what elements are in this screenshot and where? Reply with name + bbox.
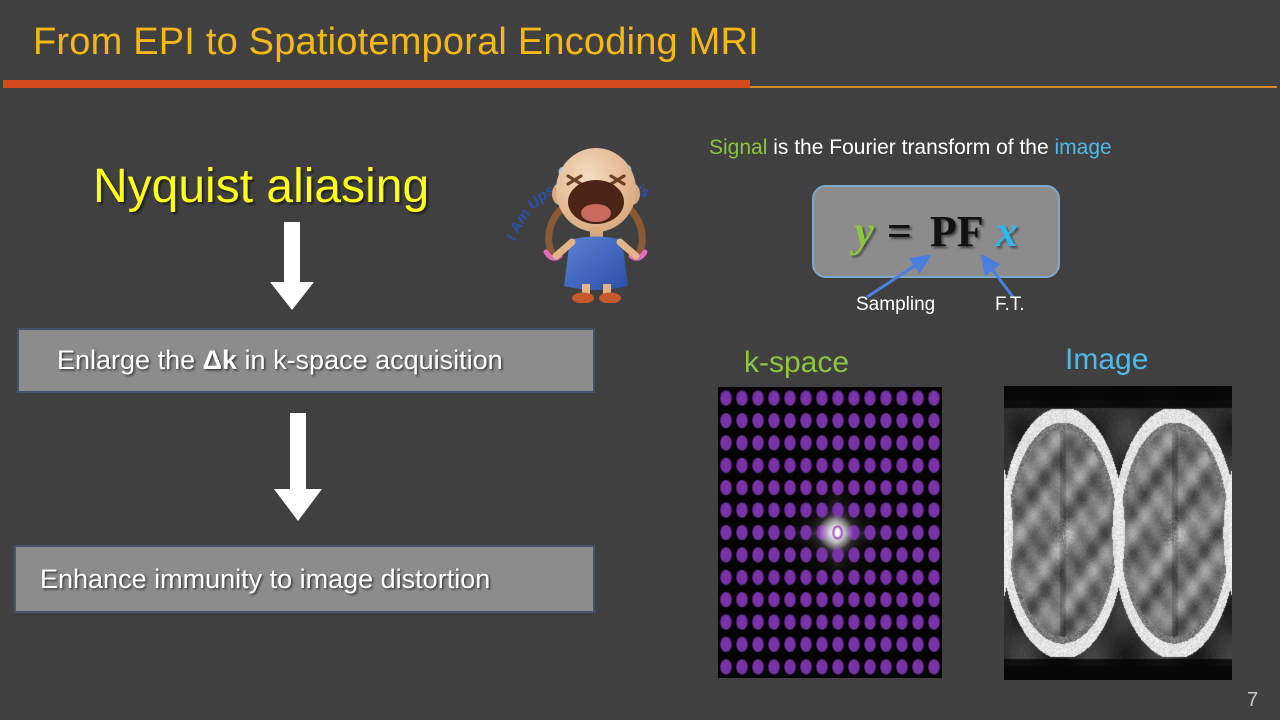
sentence-middle: is the Fourier transform of the — [767, 136, 1054, 159]
equation-equals-sign: = — [887, 209, 930, 255]
annotation-sampling: Sampling — [856, 293, 935, 317]
down-arrow-2-icon — [268, 413, 328, 523]
slide-canvas: From EPI to Spatiotemporal Encoding MRI … — [0, 0, 1280, 720]
image-figure-label: Image — [1065, 342, 1148, 378]
annotation-ft: F.T. — [995, 293, 1025, 317]
equation-content: y = PF x — [854, 209, 1017, 255]
kspace-canvas — [718, 387, 942, 678]
equation-x-term: x — [996, 209, 1018, 255]
flow-box-enhance-immunity: Enhance immunity to image distortion — [14, 545, 595, 613]
title-rule-thick — [3, 80, 750, 88]
nyquist-aliasing-heading: Nyquist aliasing — [93, 157, 429, 217]
kspace-figure-label: k-space — [744, 345, 849, 381]
delta-k-emphasis: Δk — [203, 345, 237, 375]
signal-sentence: Signal is the Fourier transform of the i… — [709, 134, 1112, 162]
sentence-signal-word: Signal — [709, 136, 767, 159]
equation-y-term: y — [854, 209, 887, 255]
flow-box-enhance-label: Enhance immunity to image distortion — [40, 564, 490, 595]
kspace-figure — [718, 387, 942, 678]
flow-box-enlarge-label: Enlarge the Δk in k-space acquisition — [57, 345, 503, 376]
down-arrow-1-icon — [262, 222, 322, 312]
flow-text-after: in k-space acquisition — [237, 345, 503, 375]
equation-pf-operators: PF — [930, 209, 996, 255]
flow-text-before: Enlarge the — [57, 345, 203, 375]
ft-arrow — [983, 257, 1013, 297]
sentence-image-word: image — [1055, 136, 1112, 159]
sampling-arrow — [867, 257, 928, 297]
slide-number: 7 — [1247, 688, 1258, 712]
brain-canvas — [1004, 386, 1232, 680]
flow-box-enlarge-delta-k: Enlarge the Δk in k-space acquisition — [17, 328, 595, 393]
aliased-brain-image — [1004, 386, 1232, 680]
page-title: From EPI to Spatiotemporal Encoding MRI — [33, 18, 759, 66]
crying-girl-clipart: I Am Upset About This — [498, 128, 694, 303]
